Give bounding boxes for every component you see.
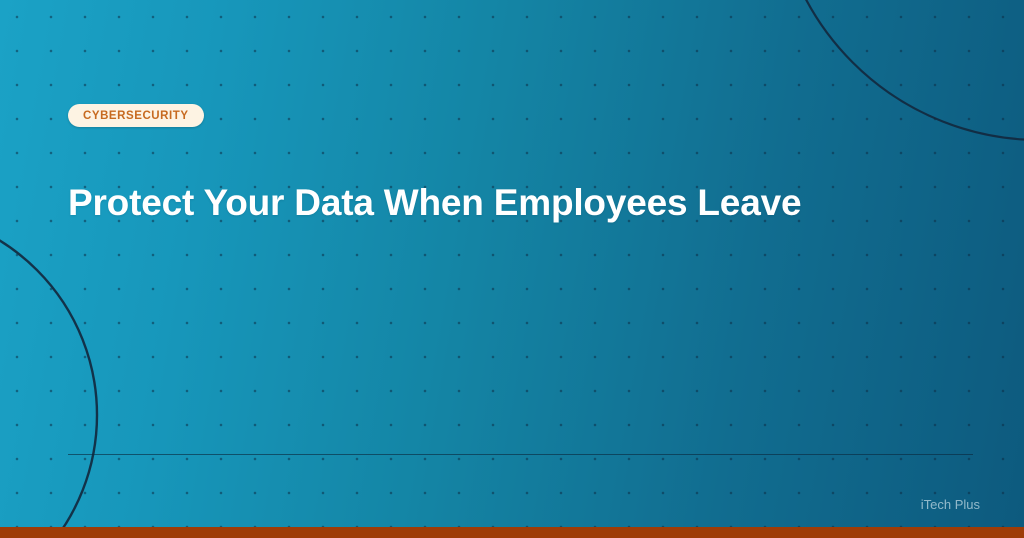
category-badge: CYBERSECURITY bbox=[68, 104, 204, 127]
decorative-arcs bbox=[0, 0, 1024, 538]
arc-bottom-left-icon bbox=[0, 210, 97, 538]
presentation-slide: CYBERSECURITY Protect Your Data When Emp… bbox=[0, 0, 1024, 538]
slide-title: Protect Your Data When Employees Leave bbox=[68, 180, 801, 226]
bottom-accent-bar bbox=[0, 527, 1024, 538]
horizontal-divider bbox=[68, 454, 973, 455]
category-badge-label: CYBERSECURITY bbox=[83, 110, 189, 122]
dot-grid-pattern bbox=[0, 0, 1024, 538]
brand-watermark: iTech Plus bbox=[921, 497, 980, 512]
arc-top-right-icon bbox=[775, 0, 1024, 140]
